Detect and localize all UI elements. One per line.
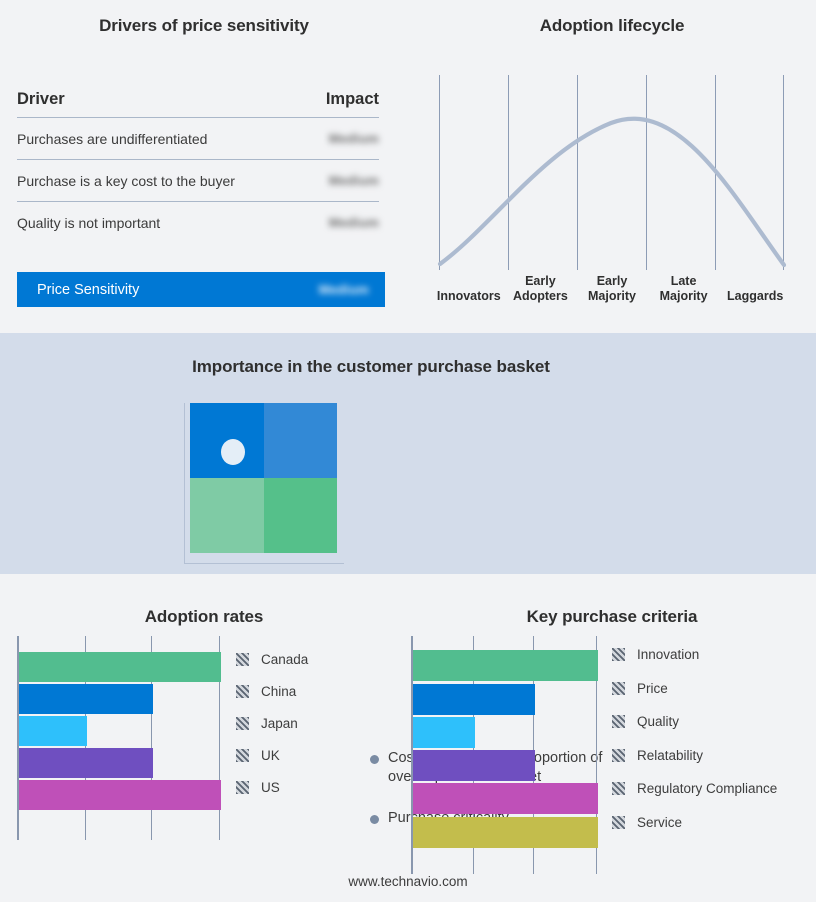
quadrant-cell-bottom-right — [264, 478, 338, 553]
table-row: Purchases are undifferentiated Medium — [17, 118, 379, 159]
legend-label: US — [261, 780, 280, 795]
position-marker-dot — [221, 439, 245, 465]
adoption-rates-panel: Adoption rates Canada China Japan U — [0, 580, 408, 902]
driver-label: Purchase is a key cost to the buyer — [17, 173, 235, 189]
legend-swatch-icon — [236, 685, 249, 698]
legend-item-relatability: Relatability — [612, 739, 777, 773]
impact-value: Medium — [329, 131, 379, 146]
axis-label-innovators: Innovators — [433, 263, 505, 305]
legend-item-regulatory-compliance: Regulatory Compliance — [612, 772, 777, 806]
chart-y-axis — [184, 403, 185, 563]
impact-value: Medium — [329, 173, 379, 188]
legend-label: China — [261, 684, 296, 699]
quadrant-cell-top-right — [264, 403, 338, 478]
summary-impact-value: Medium — [319, 282, 369, 297]
legend-item-service: Service — [612, 806, 777, 840]
legend-item-quality: Quality — [612, 705, 777, 739]
legend-item-japan: Japan — [236, 707, 308, 739]
legend-swatch-icon — [612, 749, 625, 762]
axis-label-early-adopters: Early Adopters — [505, 263, 577, 305]
quadrant-chart — [182, 403, 347, 573]
quadrant-grid — [190, 403, 337, 553]
basket-panel-title: Importance in the customer purchase bask… — [0, 357, 742, 377]
quadrant-cell-bottom-left — [190, 478, 264, 553]
adoption-curve — [433, 75, 791, 270]
driver-label: Purchases are undifferentiated — [17, 131, 207, 147]
bar-japan — [19, 716, 87, 746]
price-sensitivity-summary-row: Price Sensitivity Medium — [17, 272, 385, 307]
adoption-lifecycle-panel: Adoption lifecycle Innovators Early Adop… — [408, 0, 816, 330]
legend-label: Price — [637, 681, 668, 696]
legend-swatch-icon — [236, 781, 249, 794]
summary-label: Price Sensitivity — [37, 282, 139, 298]
drivers-of-price-sensitivity-panel: Drivers of price sensitivity Driver Impa… — [0, 0, 408, 330]
legend-swatch-icon — [236, 653, 249, 666]
legend-label: Canada — [261, 652, 308, 667]
legend-label: Service — [637, 815, 682, 830]
column-header-impact: Impact — [326, 90, 379, 109]
bar-quality — [413, 717, 475, 748]
legend-item-us: US — [236, 771, 308, 803]
criteria-legend: Innovation Price Quality Relatability Re… — [612, 638, 777, 839]
lifecycle-x-axis-labels: Innovators Early Adopters Early Majority… — [433, 263, 791, 305]
bar-china — [19, 684, 153, 714]
key-purchase-criteria-panel: Key purchase criteria Innovation Price Q… — [408, 580, 816, 902]
footer-url: www.technavio.com — [0, 874, 816, 889]
legend-swatch-icon — [612, 816, 625, 829]
criteria-panel-title: Key purchase criteria — [408, 607, 816, 627]
table-row: Quality is not important Medium — [17, 202, 379, 243]
axis-label-laggards: Laggards — [719, 263, 791, 305]
axis-label-late-majority: Late Majority — [648, 263, 720, 305]
purchase-basket-panel: Importance in the customer purchase bask… — [0, 333, 816, 574]
chart-x-axis — [184, 563, 344, 564]
adoption-panel-title: Adoption rates — [0, 607, 408, 627]
legend-label: Innovation — [637, 647, 699, 662]
drivers-panel-title: Drivers of price sensitivity — [0, 16, 408, 36]
legend-label: Japan — [261, 716, 298, 731]
legend-swatch-icon — [612, 715, 625, 728]
legend-label: UK — [261, 748, 280, 763]
legend-swatch-icon — [612, 782, 625, 795]
key-purchase-criteria-chart — [411, 636, 599, 874]
legend-label: Relatability — [637, 748, 703, 763]
drivers-table: Driver Impact Purchases are undifferenti… — [17, 90, 379, 243]
lifecycle-panel-title: Adoption lifecycle — [408, 16, 816, 36]
adoption-legend: Canada China Japan UK US — [236, 643, 308, 803]
bar-relatability — [413, 750, 535, 781]
legend-item-china: China — [236, 675, 308, 707]
bar-uk — [19, 748, 153, 778]
legend-swatch-icon — [612, 648, 625, 661]
lifecycle-chart: Innovators Early Adopters Early Majority… — [433, 75, 791, 305]
drivers-table-header: Driver Impact — [17, 90, 379, 117]
axis-label-early-majority: Early Majority — [576, 263, 648, 305]
driver-label: Quality is not important — [17, 215, 160, 231]
impact-value: Medium — [329, 215, 379, 230]
legend-swatch-icon — [612, 682, 625, 695]
table-row: Purchase is a key cost to the buyer Medi… — [17, 160, 379, 201]
legend-swatch-icon — [236, 717, 249, 730]
legend-item-canada: Canada — [236, 643, 308, 675]
bar-regulatory-compliance — [413, 783, 598, 814]
adoption-plot-area — [17, 636, 221, 840]
legend-item-innovation: Innovation — [612, 638, 777, 672]
bar-us — [19, 780, 221, 810]
bar-price — [413, 684, 535, 715]
bar-innovation — [413, 650, 598, 681]
column-header-driver: Driver — [17, 90, 65, 109]
bar-service — [413, 817, 598, 848]
legend-item-price: Price — [612, 672, 777, 706]
bar-canada — [19, 652, 221, 682]
legend-swatch-icon — [236, 749, 249, 762]
legend-item-uk: UK — [236, 739, 308, 771]
adoption-rates-chart — [17, 636, 222, 840]
criteria-plot-area — [411, 636, 598, 874]
legend-label: Quality — [637, 714, 679, 729]
legend-label: Regulatory Compliance — [637, 781, 777, 796]
